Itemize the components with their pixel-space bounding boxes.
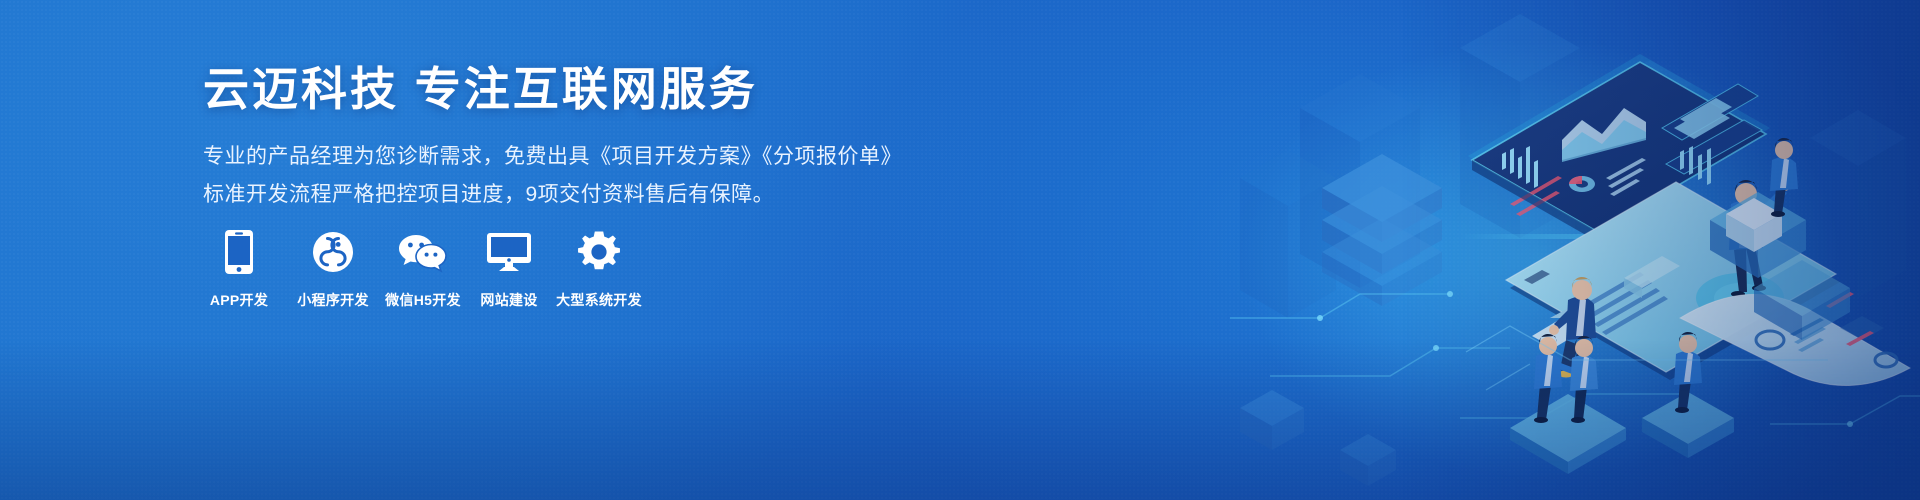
isometric-illustration <box>1210 0 1920 500</box>
hero-content: 云迈科技 专注互联网服务 专业的产品经理为您诊断需求，免费出具《项目开发方案》《… <box>203 62 963 213</box>
service-item-website[interactable]: 网站建设 <box>473 228 545 310</box>
service-item-miniprogram[interactable]: 小程序开发 <box>297 228 369 310</box>
subtitle-line-2: 标准开发流程严格把控项目进度，9项交付资料售后有保障。 <box>203 176 963 213</box>
service-item-app[interactable]: APP开发 <box>203 228 275 310</box>
service-label: 网站建设 <box>480 290 537 310</box>
gear-icon <box>577 228 621 276</box>
service-label: APP开发 <box>210 290 268 310</box>
hero-banner: 云迈科技 专注互联网服务 专业的产品经理为您诊断需求，免费出具《项目开发方案》《… <box>0 0 1920 500</box>
wechat-icon <box>398 228 448 276</box>
monitor-icon <box>486 228 532 276</box>
service-item-wechat-h5[interactable]: 微信H5开发 <box>387 228 459 310</box>
right-vignette <box>1400 0 1920 500</box>
bottom-vignette <box>0 340 1920 500</box>
page-title: 云迈科技 专注互联网服务 <box>203 62 963 116</box>
service-list: APP开发 小程序开发 <box>203 228 635 310</box>
service-label: 大型系统开发 <box>556 290 642 310</box>
service-item-large-system[interactable]: 大型系统开发 <box>563 228 635 310</box>
service-label: 微信H5开发 <box>385 290 461 310</box>
service-label: 小程序开发 <box>297 290 369 310</box>
mobile-phone-icon <box>224 228 254 276</box>
mini-program-icon <box>312 228 354 276</box>
hero-subtitle: 专业的产品经理为您诊断需求，免费出具《项目开发方案》《分项报价单》 标准开发流程… <box>203 138 963 213</box>
subtitle-line-1: 专业的产品经理为您诊断需求，免费出具《项目开发方案》《分项报价单》 <box>203 138 963 175</box>
